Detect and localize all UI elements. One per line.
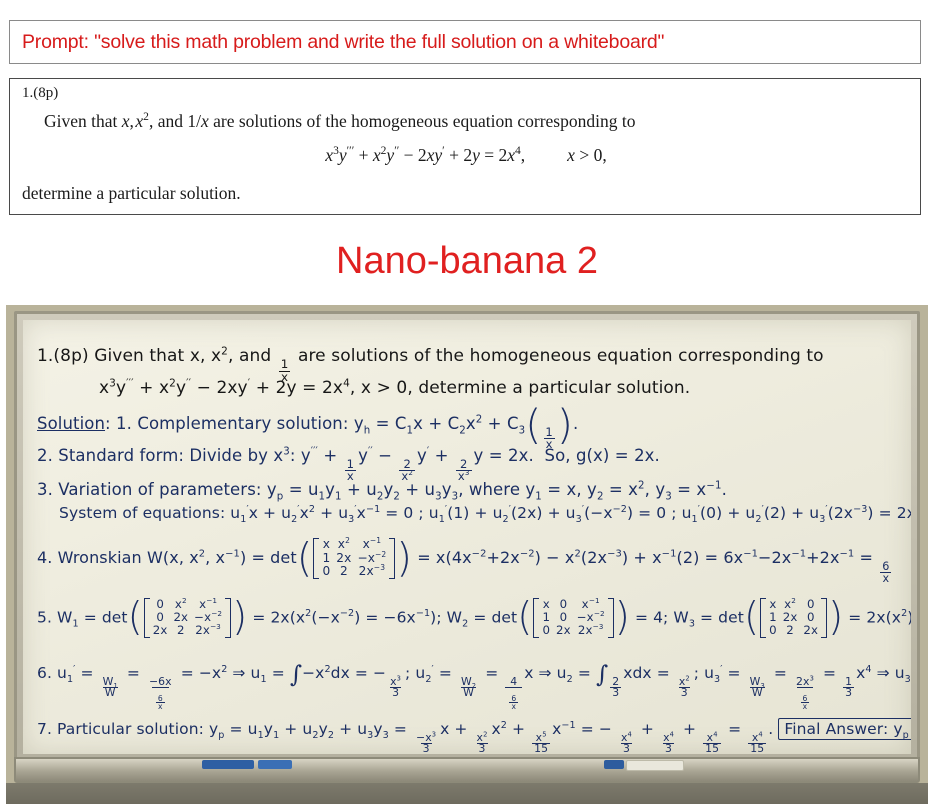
wb-problem-line-2: x3y′′′ + x2y′′ − 2xy′ + 2y = 2x4, x > 0,… <box>99 378 690 398</box>
blue-marker-icon <box>604 760 624 769</box>
wb-step-5: 5. W1 = det(0x2x−102x−x−22x22x−3) = 2x(x… <box>37 598 911 638</box>
problem-line-1: Given that x, x2, and 1/x are solutions … <box>44 111 635 132</box>
wall-below-board <box>6 783 928 804</box>
prompt-bar: Prompt: "solve this math problem and wri… <box>9 20 921 64</box>
whiteboard-eraser-icon <box>626 760 684 771</box>
whiteboard-marker-tray <box>14 757 920 783</box>
blue-marker-icon <box>202 760 254 769</box>
wb-step-3-system: System of equations: u1′x + u2′x2 + u3′x… <box>59 504 911 522</box>
final-answer-box: Final Answer: yp = x415. <box>778 718 911 740</box>
problem-statement-box: 1.(8p) Given that x, x2, and 1/x are sol… <box>9 78 921 215</box>
model-title: Nano-banana 2 <box>0 240 934 283</box>
blue-marker-icon <box>258 760 292 769</box>
wb-step-2: 2. Standard form: Divide by x3: y′′′ + 1… <box>37 446 660 483</box>
problem-line-3: determine a particular solution. <box>22 183 241 204</box>
wb-step-6: 6. u1′ = W1W = −6x6x = −x2 ⇒ u1 = ∫−x2dx… <box>37 664 911 711</box>
wronskian-matrix: xx2x−112x−x−2022x−3 <box>313 538 395 579</box>
problem-number: 1.(8p) <box>22 85 58 102</box>
w2-matrix: x0x−110−x−202x2x−3 <box>533 598 613 638</box>
whiteboard-photo: 1.(8p) Given that x, x2, and 1x are solu… <box>6 305 928 804</box>
whiteboard-frame: 1.(8p) Given that x, x2, and 1x are solu… <box>14 311 920 763</box>
wb-step-7: 7. Particular solution: yp = u1y1 + u2y2… <box>37 720 911 754</box>
w3-matrix: xx2012x0022x <box>760 598 827 638</box>
wb-solution-label: Solution <box>37 414 105 433</box>
problem-equation: x3y′′′ + x2y′′ − 2xy′ + 2y = 2x4,x > 0, <box>10 145 922 166</box>
wb-step-4: 4. Wronskian W(x, x2, x−1) = det(xx2x−11… <box>37 538 893 584</box>
w1-matrix: 0x2x−102x−x−22x22x−3 <box>144 598 231 638</box>
wb-step-3: 3. Variation of parameters: yp = u1y1 + … <box>37 480 727 499</box>
whiteboard-surface: 1.(8p) Given that x, x2, and 1x are solu… <box>23 320 911 754</box>
prompt-text: Prompt: "solve this math problem and wri… <box>10 31 664 54</box>
